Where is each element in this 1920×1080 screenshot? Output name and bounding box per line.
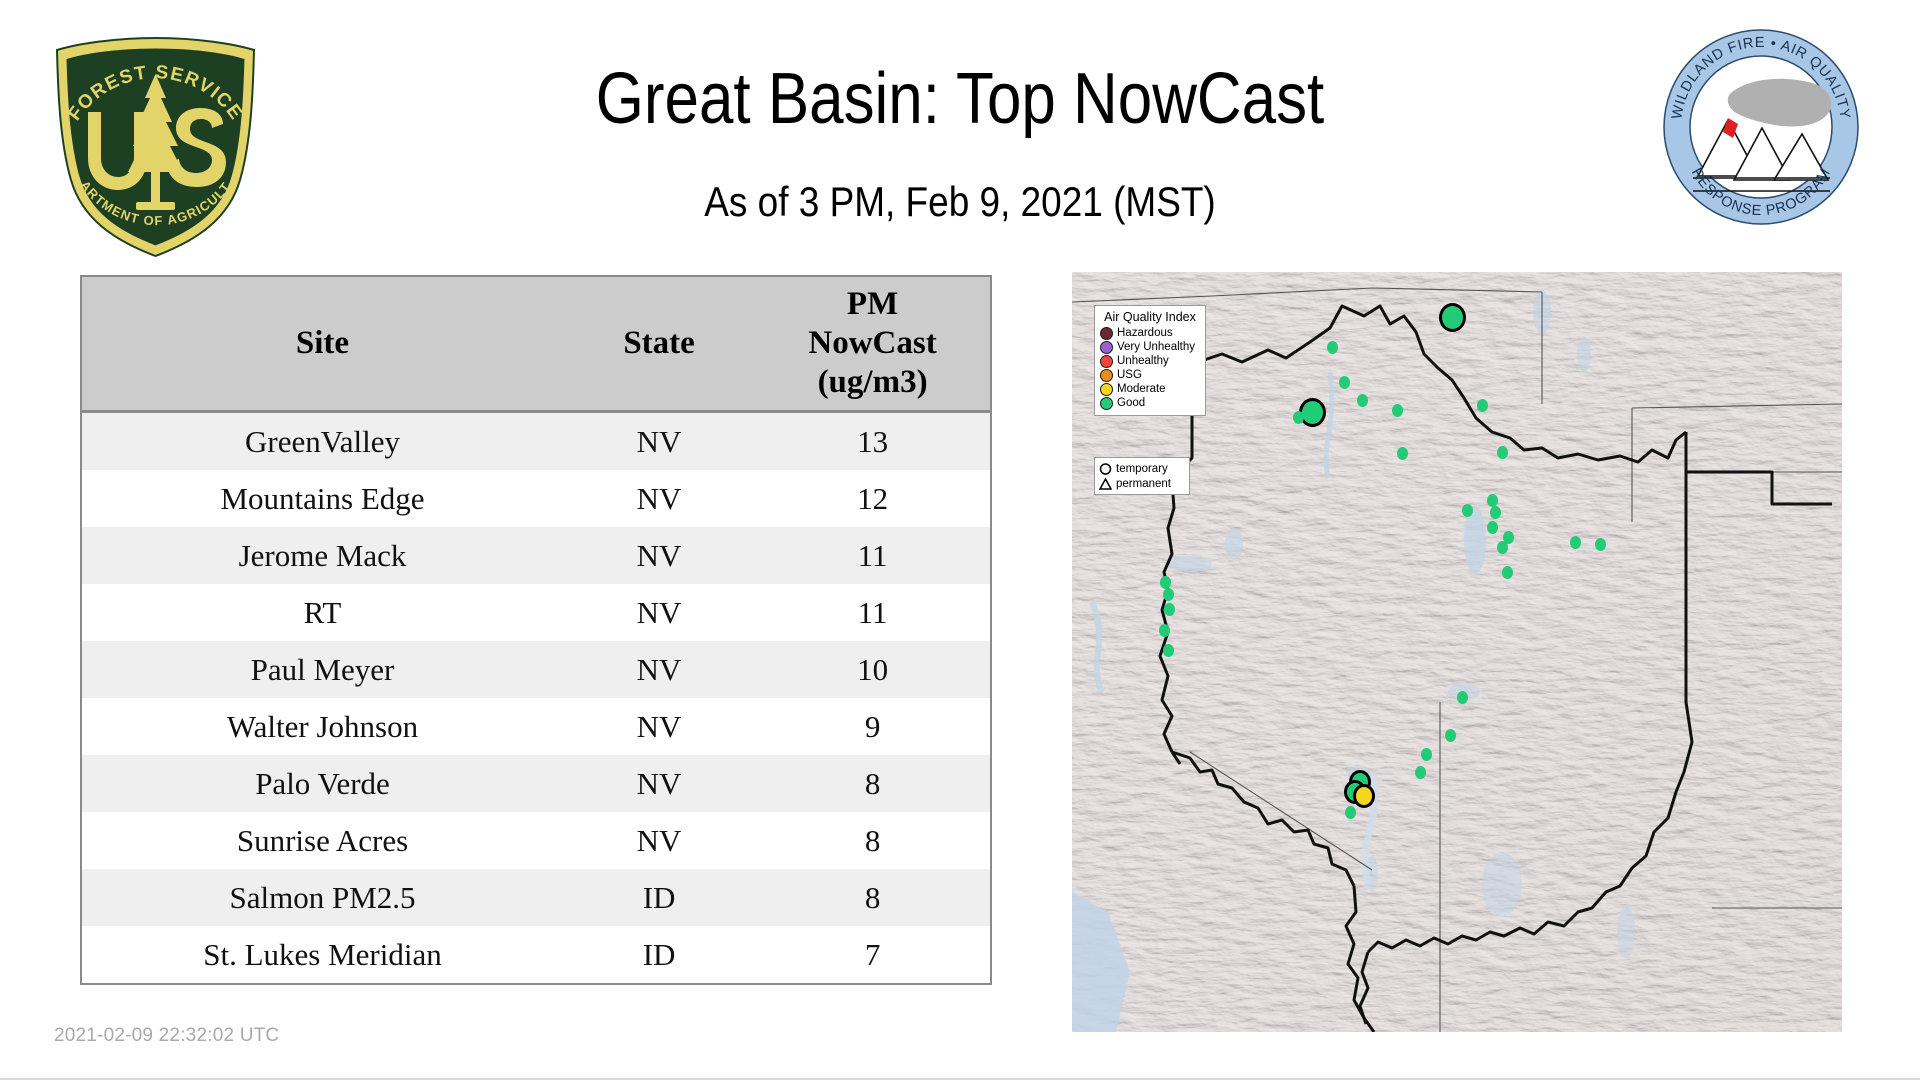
symbol-legend-row-permanent: permanent (1099, 476, 1185, 491)
site-pm-nowcast-value: 9 (755, 698, 991, 755)
symbol-legend-row-temporary: temporary (1099, 461, 1185, 476)
map-monitor-marker[interactable] (1445, 729, 1456, 742)
table-row: Jerome MackNV11 (81, 527, 991, 584)
site-state: ID (563, 926, 755, 984)
table-header-row: Site State PM NowCast (ug/m3) (81, 276, 991, 412)
page-subtitle: As of 3 PM, Feb 9, 2021 (MST) (379, 178, 1541, 226)
map-monitor-marker[interactable] (1421, 748, 1432, 761)
aqi-legend-color-dot (1100, 341, 1113, 354)
table-row: Sunrise AcresNV8 (81, 812, 991, 869)
map-monitor-marker[interactable] (1293, 411, 1304, 424)
table-row: Walter JohnsonNV9 (81, 698, 991, 755)
site-pm-nowcast-value: 8 (755, 869, 991, 926)
map-monitor-marker[interactable] (1457, 691, 1468, 704)
aqi-legend-color-dot (1100, 397, 1113, 410)
site-name: RT (81, 584, 563, 641)
site-name: Paul Meyer (81, 641, 563, 698)
map-monitor-marker[interactable] (1163, 644, 1174, 657)
aqi-legend-item-label: Hazardous (1117, 327, 1173, 340)
site-name: Sunrise Acres (81, 812, 563, 869)
table-body: GreenValleyNV13Mountains EdgeNV12Jerome … (81, 412, 991, 985)
table-row: Salmon PM2.5ID8 (81, 869, 991, 926)
site-state: NV (563, 412, 755, 471)
aqi-legend-item: Hazardous (1100, 326, 1200, 340)
site-pm-nowcast-value: 8 (755, 812, 991, 869)
column-header-pm-line2: NowCast (808, 325, 936, 361)
map-monitor-marker[interactable] (1502, 566, 1513, 579)
map-monitor-marker[interactable] (1595, 538, 1606, 551)
symbol-legend-label-temporary: temporary (1116, 462, 1168, 476)
state-boundaries (1160, 306, 1832, 1032)
map-monitor-marker[interactable] (1164, 603, 1175, 616)
footer-timestamp: 2021-02-09 22:32:02 UTC (54, 1025, 279, 1047)
column-header-state: State (563, 276, 755, 412)
page-frame: FOREST SERVICE DEPARTMENT OF AGRICULTURE… (0, 0, 1920, 1080)
map-monitor-marker[interactable] (1477, 399, 1488, 412)
site-state: NV (563, 812, 755, 869)
symbol-legend-label-permanent: permanent (1116, 477, 1171, 491)
site-name: Salmon PM2.5 (81, 869, 563, 926)
map-monitor-marker[interactable] (1357, 394, 1368, 407)
site-name: Walter Johnson (81, 698, 563, 755)
site-state: NV (563, 755, 755, 812)
map-monitor-marker[interactable] (1339, 376, 1350, 389)
site-state: ID (563, 869, 755, 926)
map-monitor-marker[interactable] (1487, 494, 1498, 507)
map-monitor-marker[interactable] (1353, 784, 1375, 808)
table-row: St. Lukes MeridianID7 (81, 926, 991, 984)
temporary-circle-icon (1099, 462, 1112, 476)
site-pm-nowcast-value: 11 (755, 527, 991, 584)
map-monitor-marker[interactable] (1163, 588, 1174, 601)
aqi-legend-color-dot (1100, 355, 1113, 368)
aqi-legend-item: USG (1100, 368, 1200, 382)
site-pm-nowcast-value: 12 (755, 470, 991, 527)
column-header-pm-nowcast: PM NowCast (ug/m3) (755, 276, 991, 412)
site-state: NV (563, 698, 755, 755)
site-name: Mountains Edge (81, 470, 563, 527)
site-state: NV (563, 641, 755, 698)
site-state: NV (563, 584, 755, 641)
site-pm-nowcast-value: 7 (755, 926, 991, 984)
map-monitor-marker[interactable] (1497, 446, 1508, 459)
map-monitor-marker[interactable] (1299, 398, 1326, 427)
site-state: NV (563, 470, 755, 527)
map-monitor-marker[interactable] (1497, 541, 1508, 554)
aqi-legend-item-label: Very Unhealthy (1117, 341, 1195, 354)
map-monitor-marker[interactable] (1327, 341, 1338, 354)
aqi-legend-item-label: Unhealthy (1117, 355, 1169, 368)
aqi-legend-item-label: USG (1117, 369, 1142, 382)
table-row: Palo VerdeNV8 (81, 755, 991, 812)
aqi-legend-item-label: Moderate (1117, 383, 1166, 396)
map-monitor-marker[interactable] (1462, 504, 1473, 517)
site-name: GreenValley (81, 412, 563, 471)
air-quality-map[interactable]: Air Quality Index HazardousVery Unhealth… (1072, 272, 1842, 1032)
map-monitor-marker[interactable] (1397, 447, 1408, 460)
page-title: Great Basin: Top NowCast (392, 58, 1527, 140)
map-monitor-marker[interactable] (1415, 766, 1426, 779)
us-forest-service-logo: FOREST SERVICE DEPARTMENT OF AGRICULTURE (48, 32, 263, 260)
column-header-pm-line1: PM (847, 286, 898, 322)
site-pm-nowcast-value: 13 (755, 412, 991, 471)
map-monitor-marker[interactable] (1439, 303, 1466, 332)
aqi-legend-item: Very Unhealthy (1100, 340, 1200, 354)
table-header: Site State PM NowCast (ug/m3) (81, 276, 991, 412)
map-monitor-marker[interactable] (1490, 506, 1501, 519)
symbol-legend: temporary permanent (1094, 457, 1190, 495)
top-nowcast-table: Site State PM NowCast (ug/m3) GreenValle… (80, 275, 992, 985)
map-monitor-marker[interactable] (1345, 806, 1356, 819)
column-header-site: Site (81, 276, 563, 412)
site-pm-nowcast-value: 8 (755, 755, 991, 812)
map-monitor-marker[interactable] (1487, 521, 1498, 534)
map-monitor-marker[interactable] (1392, 404, 1403, 417)
site-table-container: Site State PM NowCast (ug/m3) GreenValle… (80, 275, 992, 985)
site-name: Jerome Mack (81, 527, 563, 584)
aqi-legend-item-label: Good (1117, 397, 1145, 410)
site-state: NV (563, 527, 755, 584)
map-monitor-marker[interactable] (1159, 624, 1170, 637)
table-row: Mountains EdgeNV12 (81, 470, 991, 527)
wfaqrp-logo: WILDLAND FIRE • AIR QUALITY RESPONSE PRO… (1662, 28, 1860, 226)
aqi-legend: Air Quality Index HazardousVery Unhealth… (1094, 305, 1206, 416)
site-pm-nowcast-value: 10 (755, 641, 991, 698)
aqi-legend-title: Air Quality Index (1100, 310, 1200, 324)
map-monitor-marker[interactable] (1570, 536, 1581, 549)
aqi-legend-item: Unhealthy (1100, 354, 1200, 368)
table-row: GreenValleyNV13 (81, 412, 991, 471)
site-name: St. Lukes Meridian (81, 926, 563, 984)
site-pm-nowcast-value: 11 (755, 584, 991, 641)
aqi-legend-item: Moderate (1100, 382, 1200, 396)
aqi-legend-color-dot (1100, 369, 1113, 382)
aqi-legend-rows: HazardousVery UnhealthyUnhealthyUSGModer… (1100, 326, 1200, 410)
map-monitor-marker[interactable] (1160, 576, 1171, 589)
aqi-legend-item: Good (1100, 396, 1200, 410)
table-row: RTNV11 (81, 584, 991, 641)
column-header-pm-line3: (ug/m3) (818, 364, 928, 400)
aqi-legend-color-dot (1100, 327, 1113, 340)
permanent-triangle-icon (1099, 477, 1112, 491)
table-row: Paul MeyerNV10 (81, 641, 991, 698)
site-name: Palo Verde (81, 755, 563, 812)
aqi-legend-color-dot (1100, 383, 1113, 396)
